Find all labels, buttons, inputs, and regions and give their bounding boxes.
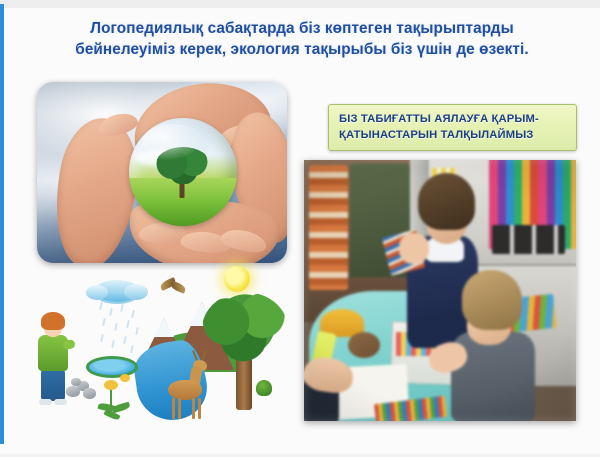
caption-text: БІЗ ТАБИҒАТТЫ АЯЛАУҒА ҚАРЫМ- ҚАТЫНАСТАРЫ… [339,111,568,143]
boy-hair [41,312,65,330]
dandelion-flower-icon [120,374,130,382]
caption-line-2: ҚАТЫНАСТАРЫН ТАЛҚЫЛАЙМЫЗ [339,127,568,143]
boy-arm [62,339,75,350]
rain-drops [98,302,140,354]
deer-leg [172,398,175,419]
boy-figure-icon [36,312,70,406]
flower-leaf [111,402,130,414]
left-accent-bar [0,4,4,444]
photo-soften-overlay [304,160,576,421]
deer-leg [192,398,195,419]
caption-line-1: БІЗ ТАБИҒАТТЫ АЯЛАУҒА ҚАРЫМ- [339,113,539,125]
slide-title-line-2: бейнелеуіміз керек, экология тақырыбы бі… [20,39,584,60]
eco-globe-photo [37,82,287,263]
pond-icon [86,356,138,378]
slide-title: Логопедиялық сабақтарда біз көптеген тақ… [20,18,584,60]
rocks-icon [66,378,96,400]
boy-shoe-left [39,399,52,405]
classroom-photo [304,160,576,421]
finger [219,226,268,255]
deer-icon [164,358,212,420]
bush-icon [256,380,272,396]
globe-gloss [142,124,205,161]
dandelion-flower-icon [104,380,118,390]
green-globe [129,118,237,226]
slide-title-line-1: Логопедиялық сабақтарда біз көптеген тақ… [90,20,513,37]
caption-box: БІЗ ТАБИҒАТТЫ АЯЛАУҒА ҚАРЫМ- ҚАТЫНАСТАРЫ… [328,104,577,151]
presentation-slide: Логопедиялық сабақтарда біз көптеген тақ… [0,0,600,457]
nature-illustration [12,262,290,434]
top-band [0,0,600,8]
big-tree-icon [202,292,288,366]
deer-leg [198,398,201,419]
deer-body [168,380,202,400]
rain-cloud-icon [94,280,140,302]
sun-icon [224,266,250,292]
bird-wing-right [169,280,187,293]
boy-legs [41,369,65,401]
deer-leg [178,398,181,419]
flying-bird-icon [160,280,186,293]
